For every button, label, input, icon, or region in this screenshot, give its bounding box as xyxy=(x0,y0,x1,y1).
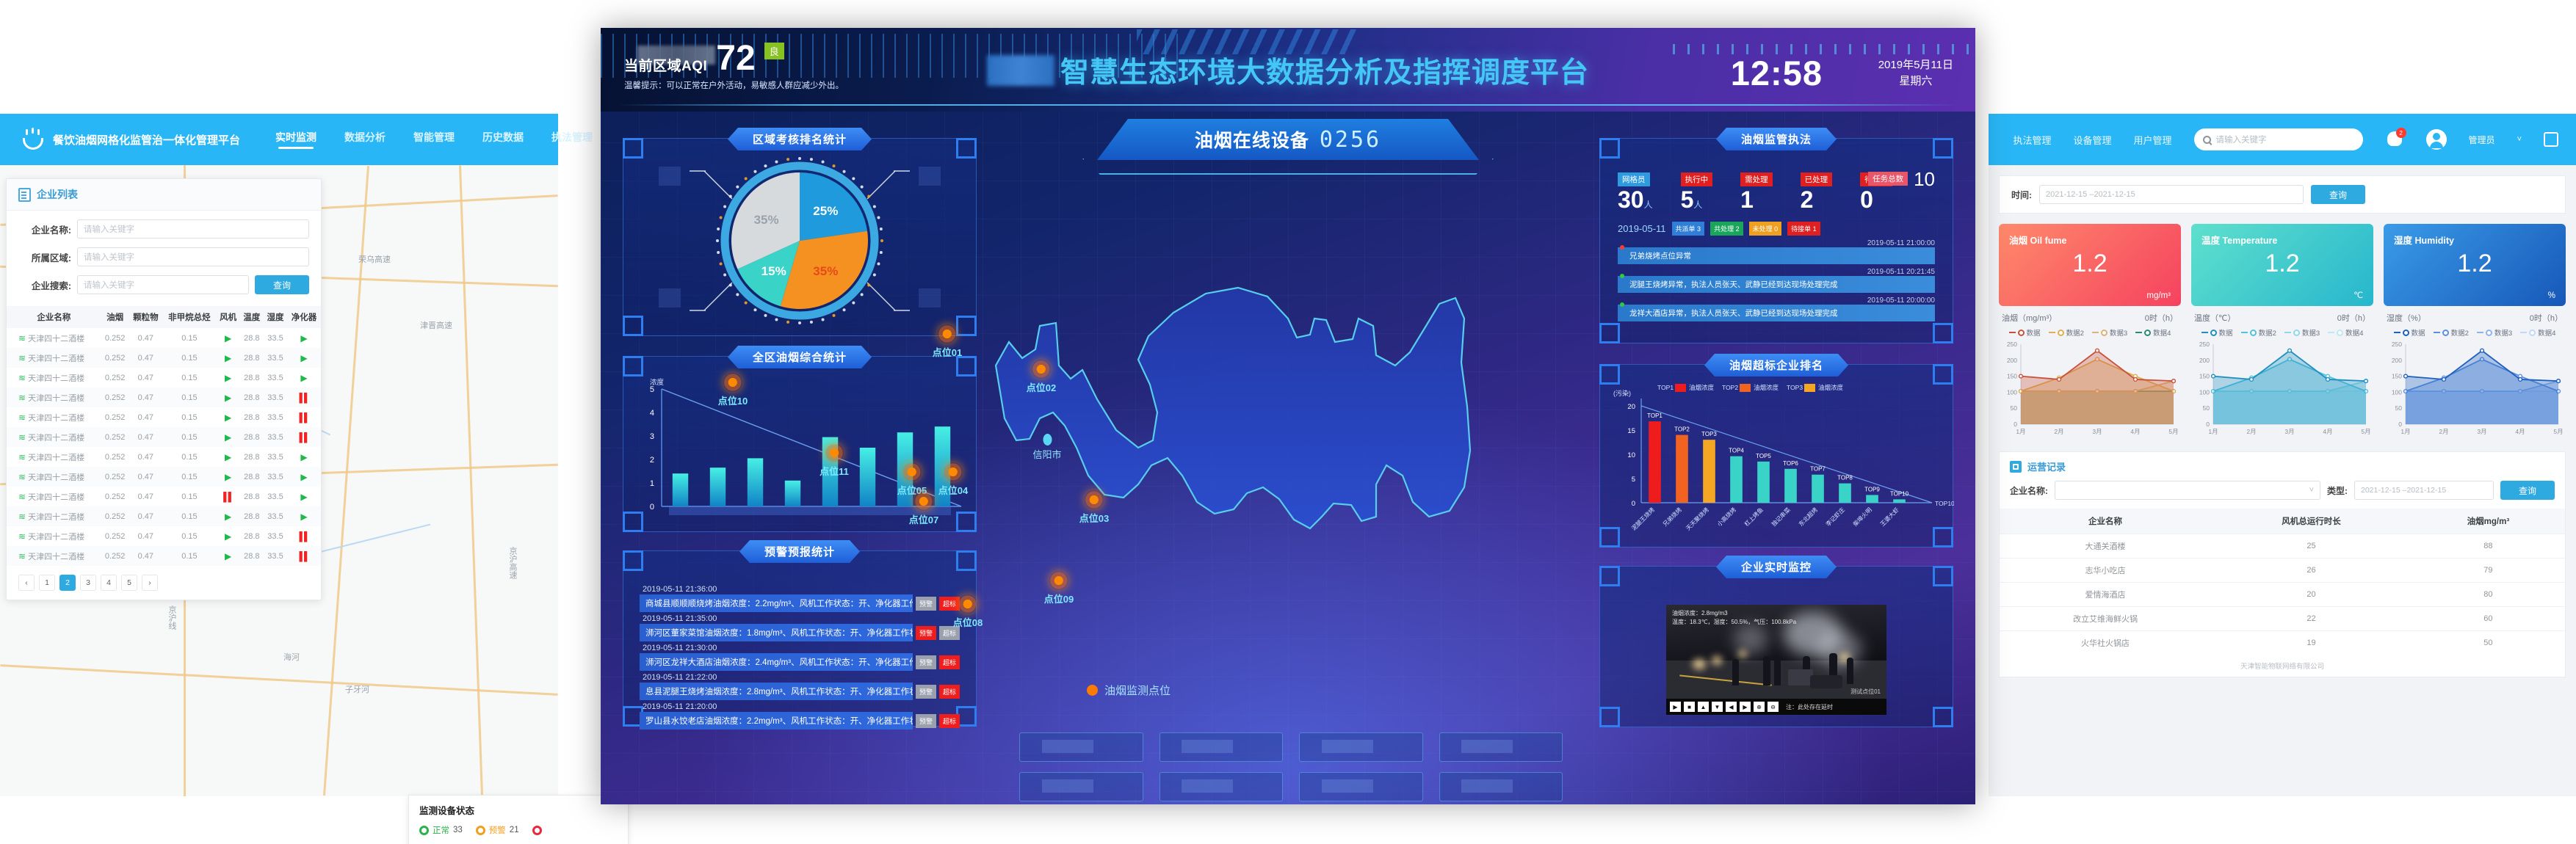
right-query-button[interactable]: 查询 xyxy=(2311,185,2365,204)
svg-text:100: 100 xyxy=(2007,388,2017,396)
table-row[interactable]: 大通关酒楼2588 xyxy=(2000,534,2565,559)
play-icon: ▶ xyxy=(225,432,231,443)
cell-hum: 33.5 xyxy=(264,467,287,487)
user-name[interactable]: 管理员 xyxy=(2469,134,2495,146)
legend-marker-icon xyxy=(2250,330,2257,336)
legend-label: 数据 xyxy=(2027,327,2041,338)
play-icon: ▶ xyxy=(225,412,231,423)
table-row[interactable]: ≋ 天津四十二酒楼0.2520.470.15▶28.833.5▌▌ xyxy=(7,546,321,566)
cell-hours: 19 xyxy=(2211,631,2412,655)
map-pin[interactable]: 点位07 xyxy=(909,492,938,526)
svg-text:柴埠火明: 柴埠火明 xyxy=(1851,506,1873,528)
map-pin[interactable]: 点位11 xyxy=(820,443,849,478)
background-window-left: 餐饮油烟网格化监管治一体化管理平台 实时监测 数据分析 智能管理 历史数据 执法… xyxy=(0,114,558,796)
device-tile[interactable] xyxy=(1159,772,1284,801)
aqi-value: 72 xyxy=(716,43,755,75)
legend-item[interactable]: 数据4 xyxy=(2520,327,2555,338)
chart-axis-oil-right: 0时（h） xyxy=(2145,312,2178,324)
chart-axis-temp: 温度（℃） 0时（h） xyxy=(2191,306,2373,325)
wifi-icon: ≋ xyxy=(18,393,26,403)
enforcement-stat-label: 执行中 xyxy=(1681,172,1713,186)
map-pin[interactable]: 点位03 xyxy=(1079,490,1109,525)
map-pin-icon xyxy=(914,492,933,511)
cell-purifier: ▌▌ xyxy=(287,388,321,407)
svg-text:2: 2 xyxy=(650,456,654,465)
record-type-input[interactable]: 2021-12-15 –2021-12-15 xyxy=(2354,481,2494,500)
col-oil: 油烟 xyxy=(101,306,129,328)
enforcement-log-text: 龙祥大酒店异常，执法人员张天、武静已经到达现场处理完成 xyxy=(1618,305,1935,321)
warning-time: 2019-05-11 21:30:00 xyxy=(643,644,960,652)
panel-region-ranking: 区域考核排名统计 25%35%15%35% xyxy=(623,138,977,336)
map-pin-label: 点位09 xyxy=(1044,592,1074,605)
left-nav-item-2[interactable]: 智能管理 xyxy=(413,130,455,149)
cell-pm: 0.47 xyxy=(129,427,162,447)
record-table-header-row: 企业名称 风机总运行时长 油烟mg/m³ xyxy=(2000,509,2565,534)
cell-purifier: ▌▌ xyxy=(287,407,321,427)
warning-row[interactable]: 浉河区董家菜馆油烟浓度：1.8mg/m³、风机工作状态：开、净化器工作状态：开预… xyxy=(640,624,960,641)
metric-col-oil: 油烟 Oil fume 1.2 mg/m³ 油烟（mg/m³） 0时（h） 数据… xyxy=(1999,224,2181,443)
left-nav-item-1[interactable]: 数据分析 xyxy=(344,130,386,149)
legend-item[interactable]: 数据3 xyxy=(2477,327,2512,338)
play-icon: ▶ xyxy=(225,531,231,542)
legend-item[interactable]: 数据4 xyxy=(2328,327,2363,338)
warning-row[interactable]: 商城县顺顺顺烧烤油烟浓度：2.2mg/m³、风机工作状态：开、净化器工作状态：开… xyxy=(640,594,960,612)
cell-oil: 60 xyxy=(2412,607,2565,631)
cell-oil: 0.252 xyxy=(101,368,129,388)
warning-tag-exceed[interactable]: 超标 xyxy=(939,685,960,699)
metric-cards: 油烟 Oil fume 1.2 mg/m³ 油烟（mg/m³） 0时（h） 数据… xyxy=(1999,224,2566,443)
play-icon: ▶ xyxy=(300,512,307,522)
cell-name: 改立艾维海鲜火锅 xyxy=(2000,607,2211,631)
page-2[interactable]: 2 xyxy=(59,575,76,591)
wifi-icon: ≋ xyxy=(18,512,26,522)
warning-tag-alert[interactable]: 预警 xyxy=(916,626,936,640)
cell-fan: ▶ xyxy=(217,467,240,487)
panel-exceed-ranking: 油烟超标企业排名 (污染)05101520TOP1油烟浓度TOP2油烟浓度TOP… xyxy=(1599,364,1953,547)
live-video-player[interactable]: 油烟浓度：2.8mg/m3 温度：18.3℃，湿度：50.5%，气压：100.8… xyxy=(1666,605,1886,715)
enforcement-log[interactable]: 2019-05-11 21:00:00兄弟烧烤点位异常 xyxy=(1618,239,1935,264)
chart-axis-temp-right: 0时（h） xyxy=(2337,312,2370,324)
svg-text:1月: 1月 xyxy=(2208,428,2218,435)
table-row[interactable]: 爱情海酒店2080 xyxy=(2000,583,2565,607)
legend-label: 数据4 xyxy=(2153,327,2171,338)
metric-card-temp-unit: ℃ xyxy=(2354,290,2363,300)
cell-name: ≋ 天津四十二酒楼 xyxy=(7,388,101,407)
left-window-topbar: 餐饮油烟网格化监管治一体化管理平台 实时监测 数据分析 智能管理 历史数据 执法… xyxy=(0,114,558,165)
cell-hours: 22 xyxy=(2211,607,2412,631)
right-footer: 天津智能物联网络有限公司 xyxy=(2000,655,2565,677)
legend-marker-icon xyxy=(2144,330,2151,336)
svg-text:200: 200 xyxy=(2199,357,2210,364)
wifi-icon: ≋ xyxy=(18,432,26,443)
legend-item[interactable]: 数据2 xyxy=(2434,327,2469,338)
enforcement-stat-value: 1 xyxy=(1740,188,1773,211)
svg-text:2月: 2月 xyxy=(2439,428,2448,435)
cell-purifier: ▌▌ xyxy=(287,526,321,546)
dashboard-window: 当前区域AQI 72 良 温馨提示：可以正常在户外活动，易敏感人群应减少外出。 … xyxy=(601,28,1975,804)
page-3[interactable]: 3 xyxy=(80,575,96,591)
warning-tag-exceed[interactable]: 超标 xyxy=(939,655,960,669)
chart-axis-hum-right: 0时（h） xyxy=(2530,312,2563,324)
svg-text:TOP10: TOP10 xyxy=(1935,500,1954,507)
cell-oil: 0.252 xyxy=(101,447,129,467)
map-pin[interactable]: 点位04 xyxy=(938,462,968,497)
enforcement-stat-label: 已处理 xyxy=(1801,172,1833,186)
record-name-label: 企业名称: xyxy=(2010,484,2048,497)
map-pin-label: 点位02 xyxy=(1027,380,1056,394)
svg-text:东北超烤: 东北超烤 xyxy=(1797,506,1819,528)
enforcement-chip[interactable]: 未处理 0 xyxy=(1749,222,1782,236)
col-hum: 湿度 xyxy=(264,306,287,328)
cell-fan: ▶ xyxy=(217,348,240,368)
warning-time: 2019-05-11 21:35:00 xyxy=(643,614,960,623)
svg-text:0: 0 xyxy=(1632,500,1635,508)
cell-nmhc: 0.15 xyxy=(162,467,216,487)
cell-name: 爱情海酒店 xyxy=(2000,583,2211,607)
device-tile[interactable] xyxy=(1299,772,1423,801)
svg-text:50: 50 xyxy=(2203,404,2210,412)
wifi-icon: ≋ xyxy=(18,373,26,383)
panel-region-ranking-title: 区域考核排名统计 xyxy=(728,128,872,150)
map-pin[interactable]: 点位02 xyxy=(1027,360,1056,394)
warning-tag-alert[interactable]: 预警 xyxy=(916,597,936,611)
device-tile[interactable] xyxy=(1019,772,1143,801)
device-tile[interactable] xyxy=(1439,772,1563,801)
legend-item[interactable]: 数据 xyxy=(2201,327,2233,338)
home-icon[interactable] xyxy=(2544,132,2558,147)
legend-line-icon xyxy=(2241,332,2248,333)
legend-label: 数据2 xyxy=(2451,327,2469,338)
left-nav-item-3[interactable]: 历史数据 xyxy=(482,130,524,149)
cell-nmhc: 0.15 xyxy=(162,348,216,368)
clock: 12:58 xyxy=(1731,53,1823,93)
table-row[interactable]: 改立艾维海鲜火锅2260 xyxy=(2000,607,2565,631)
table-row[interactable]: ≋ 天津四十二酒楼0.2520.470.15▶28.833.5▶ xyxy=(7,506,321,526)
map-pin-label: 点位11 xyxy=(820,464,849,478)
video-play-button[interactable]: ▶ xyxy=(1670,702,1681,712)
cell-nmhc: 0.15 xyxy=(162,328,216,348)
right-search-placeholder: 请输入关键字 xyxy=(2216,134,2267,145)
cell-pm: 0.47 xyxy=(129,388,162,407)
warning-text: 息县泥腿王烧烤油烟浓度：2.8mg/m³、风机工作状态：开、净化器工作状态：开 xyxy=(640,683,913,700)
legend-item[interactable]: 数据3 xyxy=(2284,327,2320,338)
metric-card-temp-value: 1.2 xyxy=(2201,250,2363,278)
enforcement-chip[interactable]: 共派单 3 xyxy=(1672,222,1705,236)
svg-text:独记串菜: 独记串菜 xyxy=(1770,506,1792,528)
table-row[interactable]: 志华小吃店2679 xyxy=(2000,559,2565,583)
svg-text:泥腿王烧烤: 泥腿王烧烤 xyxy=(1630,506,1656,531)
map-pin-icon xyxy=(723,373,742,392)
play-icon: ▶ xyxy=(300,492,307,502)
device-tile[interactable] xyxy=(1019,732,1143,762)
device-tile[interactable] xyxy=(1159,732,1284,762)
metric-card-hum-title: 湿度 Humidity xyxy=(2394,233,2555,247)
right-search-input[interactable]: 请输入关键字 xyxy=(2194,128,2363,150)
cell-fan: ▶ xyxy=(217,368,240,388)
status-dot-icon xyxy=(1620,302,1624,307)
wifi-icon: ≋ xyxy=(18,472,26,482)
legend-line-icon xyxy=(2328,332,2334,333)
legend-item[interactable]: 数据 xyxy=(2009,327,2041,338)
map-pin[interactable]: 点位10 xyxy=(718,373,748,407)
cell-name: ≋ 天津四十二酒楼 xyxy=(7,348,101,368)
cell-oil: 0.252 xyxy=(101,407,129,427)
page-prev[interactable]: ‹ xyxy=(18,575,35,591)
left-nav-item-0[interactable]: 实时监测 xyxy=(275,130,316,149)
list-icon xyxy=(18,188,31,202)
legend-item[interactable]: 数据4 xyxy=(2135,327,2171,338)
video-note: 注：此处存在延时 xyxy=(1786,703,1833,711)
aqi-block: 当前区域AQI 72 良 温馨提示：可以正常在户外活动，易敏感人群应减少外出。 xyxy=(624,43,844,91)
legend-marker-icon xyxy=(2486,330,2492,336)
svg-text:5月: 5月 xyxy=(2553,428,2563,435)
page-4[interactable]: 4 xyxy=(101,575,117,591)
cell-oil: 0.252 xyxy=(101,546,129,566)
svg-text:150: 150 xyxy=(2007,373,2017,380)
table-row[interactable]: ≋ 天津四十二酒楼0.2520.470.15▶28.833.5▌▌ xyxy=(7,407,321,427)
warning-time: 2019-05-11 21:36:00 xyxy=(643,585,960,594)
cell-name: ≋ 天津四十二酒楼 xyxy=(7,526,101,546)
map-pin[interactable]: 点位01 xyxy=(933,324,962,359)
cell-nmhc: 0.15 xyxy=(162,427,216,447)
cell-purifier: ▌▌ xyxy=(287,546,321,566)
device-state-normal-count: 33 xyxy=(453,826,463,834)
pause-icon: ▌▌ xyxy=(300,432,309,443)
enforcement-log[interactable]: 2019-05-11 20:21:45泥腿王烧烤异常，执法人员张天、武静已经到达… xyxy=(1618,268,1935,293)
right-nav-item-0[interactable]: 执法管理 xyxy=(2014,133,2052,147)
cell-pm: 0.47 xyxy=(129,368,162,388)
legend-item[interactable]: 数据3 xyxy=(2092,327,2127,338)
legend-label: 数据3 xyxy=(2494,327,2512,338)
svg-text:5: 5 xyxy=(1632,476,1635,484)
svg-text:50: 50 xyxy=(2395,404,2403,412)
video-stop-button[interactable]: ■ xyxy=(1684,702,1695,712)
map-pin[interactable]: 点位08 xyxy=(953,594,983,629)
table-row[interactable]: ≋ 天津四十二酒楼0.2520.470.15▶28.833.5▌▌ xyxy=(7,427,321,447)
warning-tag-alert[interactable]: 预警 xyxy=(916,685,936,699)
region-input[interactable]: 请输入关键字 xyxy=(77,247,309,266)
cell-fan: ▌▌ xyxy=(217,487,240,506)
cell-name: ≋ 天津四十二酒楼 xyxy=(7,407,101,427)
enterprise-table-body: ≋ 天津四十二酒楼0.2520.470.15▶28.833.5▶≋ 天津四十二酒… xyxy=(7,328,321,566)
svg-text:3月: 3月 xyxy=(2477,428,2486,435)
legend-marker-icon xyxy=(2403,330,2409,336)
cell-pm: 0.47 xyxy=(129,546,162,566)
svg-text:1月: 1月 xyxy=(2400,428,2410,435)
enforcement-chip[interactable]: 共处理 2 xyxy=(1710,222,1743,236)
play-icon: ▶ xyxy=(300,472,307,482)
video-up-button[interactable]: ▲ xyxy=(1698,702,1709,712)
cell-hum: 33.5 xyxy=(264,526,287,546)
chart-axis-temp-left: 温度（℃） xyxy=(2194,312,2235,324)
legend-line-icon xyxy=(2394,332,2400,333)
map-pin-icon xyxy=(1049,571,1068,590)
video-left-button[interactable]: ◀ xyxy=(1726,702,1737,712)
cell-pm: 0.47 xyxy=(129,407,162,427)
cell-nmhc: 0.15 xyxy=(162,506,216,526)
cell-pm: 0.47 xyxy=(129,348,162,368)
legend-oil: 数据数据2数据3数据4 xyxy=(1999,325,2181,340)
map-pin[interactable]: 点位09 xyxy=(1044,571,1074,605)
cell-oil: 0.252 xyxy=(101,487,129,506)
table-row[interactable]: ≋ 天津四十二酒楼0.2520.470.15▶28.833.5▶ xyxy=(7,467,321,487)
svg-text:王婆大虾: 王婆大虾 xyxy=(1878,506,1900,528)
legend-item[interactable]: 数据 xyxy=(2394,327,2425,338)
avatar[interactable] xyxy=(2426,129,2447,150)
warning-row[interactable]: 浉河区龙祥大酒店油烟浓度：2.4mg/m³、风机工作状态：开、净化器工作状态：开… xyxy=(640,653,960,671)
cell-fan: ▶ xyxy=(217,526,240,546)
cell-name: 志华小吃店 xyxy=(2000,559,2211,583)
svg-text:4月: 4月 xyxy=(2130,428,2140,435)
pagination: ‹ 1 2 3 4 5 › xyxy=(7,566,321,600)
right-nav-item-2[interactable]: 用户管理 xyxy=(2134,133,2172,147)
svg-text:250: 250 xyxy=(2007,341,2017,348)
panel-warning-forecast-title: 预警预报统计 xyxy=(739,540,860,563)
table-row[interactable]: ≋ 天津四十二酒楼0.2520.470.15▶28.833.5▌▌ xyxy=(7,388,321,407)
table-row[interactable]: ≋ 天津四十二酒楼0.2520.470.15▌▌28.833.5▶ xyxy=(7,487,321,506)
notification-bell-icon[interactable]: 2 xyxy=(2385,130,2404,149)
map-label-6: 子牙河 xyxy=(345,683,369,695)
right-nav-item-1[interactable]: 设备管理 xyxy=(2074,133,2112,147)
aqi-line: 当前区域AQI 72 良 xyxy=(624,43,844,75)
video-zoom-in-button[interactable]: ⊕ xyxy=(1754,702,1765,712)
device-state-warn: 预警 21 xyxy=(476,824,519,836)
left-map-background[interactable]: 京台高速 荣乌高速 津晋高速 津滨高速 京沪高速 京沪线 子牙河 海河 企业列表… xyxy=(0,165,558,796)
warning-time: 2019-05-11 21:22:00 xyxy=(643,673,960,682)
video-zoom-out-button[interactable]: ⊖ xyxy=(1768,702,1779,712)
enforcement-chip[interactable]: 待接单 1 xyxy=(1787,222,1820,236)
table-row[interactable]: ≋ 天津四十二酒楼0.2520.470.15▶28.833.5▶ xyxy=(7,447,321,467)
wifi-icon: ≋ xyxy=(18,492,26,502)
video-overlay-line2: 温度：18.3℃，湿度：50.5%，气压：100.8kPa xyxy=(1672,618,1796,627)
record-name-select[interactable]: ˅ xyxy=(2055,481,2320,500)
cell-temp: 28.8 xyxy=(240,427,264,447)
legend-line-icon xyxy=(2135,332,2142,333)
cell-temp: 28.8 xyxy=(240,368,264,388)
table-row[interactable]: ≋ 天津四十二酒楼0.2520.470.15▶28.833.5▶ xyxy=(7,368,321,388)
svg-text:0: 0 xyxy=(2206,421,2210,428)
record-query-button[interactable]: 查询 xyxy=(2500,481,2555,500)
metric-card-oil-value: 1.2 xyxy=(2009,250,2171,278)
metric-card-oil-title: 油烟 Oil fume xyxy=(2009,233,2171,247)
device-tile-grid xyxy=(1019,732,1563,801)
form-label-name: 企业名称: xyxy=(18,222,71,236)
device-tile[interactable] xyxy=(1439,732,1563,762)
video-overlay-text: 油烟浓度：2.8mg/m3 温度：18.3℃，湿度：50.5%，气压：100.8… xyxy=(1672,609,1796,627)
table-row[interactable]: ≋ 天津四十二酒楼0.2520.470.15▶28.833.5▶ xyxy=(7,348,321,368)
warning-row[interactable]: 罗山县水饺老店油烟浓度：2.2mg/m³、风机工作状态：开、净化器工作状态：开预… xyxy=(640,712,960,730)
enforcement-stat-value: 2 xyxy=(1801,188,1833,211)
legend-marker-icon xyxy=(2529,330,2536,336)
play-icon: ▶ xyxy=(225,333,231,343)
svg-text:2月: 2月 xyxy=(2054,428,2063,435)
cell-temp: 28.8 xyxy=(240,328,264,348)
table-row[interactable]: 火华社火锅店1950 xyxy=(2000,631,2565,655)
city-marker: 信阳市 xyxy=(1032,434,1061,461)
svg-text:200: 200 xyxy=(2392,357,2402,364)
svg-text:兄弟烧烤: 兄弟烧烤 xyxy=(1661,506,1683,528)
warning-tag-alert[interactable]: 预警 xyxy=(916,714,936,728)
cell-name: ≋ 天津四十二酒楼 xyxy=(7,506,101,526)
metric-col-hum: 湿度 Humidity 1.2 % 湿度（%） 0时（h） 数据数据2数据3数据… xyxy=(2384,224,2566,443)
enterprise-name-input[interactable]: 请输入关键字 xyxy=(77,219,309,239)
svg-text:TOP3: TOP3 xyxy=(1787,384,1803,391)
table-row[interactable]: ≋ 天津四十二酒楼0.2520.470.15▶28.833.5▶ xyxy=(7,328,321,348)
cell-pm: 0.47 xyxy=(129,467,162,487)
chevron-down-icon[interactable]: ˅ xyxy=(2517,135,2522,144)
right-window-body: 时间: 2021-12-15 –2021-12-15 查询 油烟 Oil fum… xyxy=(1989,165,2576,688)
page-next[interactable]: › xyxy=(142,575,158,591)
enterprise-search-input[interactable]: 请输入关键字 xyxy=(77,275,249,294)
blurred-logo xyxy=(987,55,1054,86)
video-down-button[interactable]: ▼ xyxy=(1712,702,1723,712)
panel-enforcement: 油烟监管执法 任务总数 10 网格员30人执行中5人需处理1已处理2待处理0 2… xyxy=(1599,138,1953,343)
table-row[interactable]: ≋ 天津四十二酒楼0.2520.470.15▶28.833.5▌▌ xyxy=(7,526,321,546)
page-1[interactable]: 1 xyxy=(39,575,55,591)
svg-text:35%: 35% xyxy=(754,213,779,227)
map-label-4: 京沪高速 xyxy=(507,547,518,579)
date-range-input[interactable]: 2021-12-15 –2021-12-15 xyxy=(2039,185,2304,204)
cell-hum: 33.5 xyxy=(264,348,287,368)
cell-temp: 28.8 xyxy=(240,467,264,487)
map-banner: 油烟在线设备 0256 xyxy=(1097,119,1479,160)
cell-name: ≋ 天津四十二酒楼 xyxy=(7,487,101,506)
legend-line-icon xyxy=(2092,332,2099,333)
legend-item[interactable]: 数据2 xyxy=(2241,327,2276,338)
enforcement-log[interactable]: 2019-05-11 20:00:00龙祥大酒店异常，执法人员张天、武静已经到达… xyxy=(1618,297,1935,321)
legend-dot-icon xyxy=(1087,685,1098,696)
warning-tag-exceed[interactable]: 超标 xyxy=(939,714,960,728)
warning-row[interactable]: 息县泥腿王烧烤油烟浓度：2.8mg/m³、风机工作状态：开、净化器工作状态：开预… xyxy=(640,683,960,700)
legend-marker-icon xyxy=(2337,330,2343,336)
search-icon xyxy=(2203,136,2211,144)
svg-text:TOP5: TOP5 xyxy=(1756,453,1771,459)
region-map-shape[interactable] xyxy=(994,255,1582,666)
cell-fan: ▶ xyxy=(217,427,240,447)
search-button[interactable]: 查询 xyxy=(255,275,309,294)
cell-nmhc: 0.15 xyxy=(162,388,216,407)
enforcement-date: 2019-05-11 xyxy=(1618,223,1666,234)
form-row-name: 企业名称: 请输入关键字 xyxy=(7,215,321,243)
chart-temp: 0501001502002501月2月3月4月5月 xyxy=(2191,340,2373,443)
legend-item[interactable]: 数据2 xyxy=(2049,327,2084,338)
svg-text:李记虾庄: 李记虾庄 xyxy=(1824,506,1846,528)
cell-temp: 28.8 xyxy=(240,506,264,526)
left-nav-item-4[interactable]: 执法管理 xyxy=(551,130,593,149)
svg-text:100: 100 xyxy=(2392,388,2402,396)
panel-live-monitor: 企业实时监控 油烟浓度：2.8mg/m3 xyxy=(1599,566,1953,727)
device-state-warn-label: 预警 xyxy=(489,824,506,836)
svg-text:150: 150 xyxy=(2199,373,2210,380)
warning-tag-alert[interactable]: 预警 xyxy=(916,655,936,669)
cell-purifier: ▶ xyxy=(287,506,321,526)
svg-text:250: 250 xyxy=(2392,341,2402,348)
svg-text:15: 15 xyxy=(1627,427,1635,435)
page-5[interactable]: 5 xyxy=(121,575,137,591)
pause-icon: ▌▌ xyxy=(300,412,309,423)
svg-text:TOP2: TOP2 xyxy=(1722,384,1738,391)
cell-nmhc: 0.15 xyxy=(162,526,216,546)
cell-hours: 20 xyxy=(2211,583,2412,607)
circle-green-icon xyxy=(419,826,429,835)
cell-oil: 79 xyxy=(2412,559,2565,583)
device-tile[interactable] xyxy=(1299,732,1423,762)
enforcement-stat: 执行中5人 xyxy=(1681,172,1713,211)
video-right-button[interactable]: ▶ xyxy=(1740,702,1751,712)
play-icon: ▶ xyxy=(225,512,231,522)
map-legend: 油烟监测点位 xyxy=(1087,683,1171,698)
status-dot-icon xyxy=(1620,274,1624,278)
